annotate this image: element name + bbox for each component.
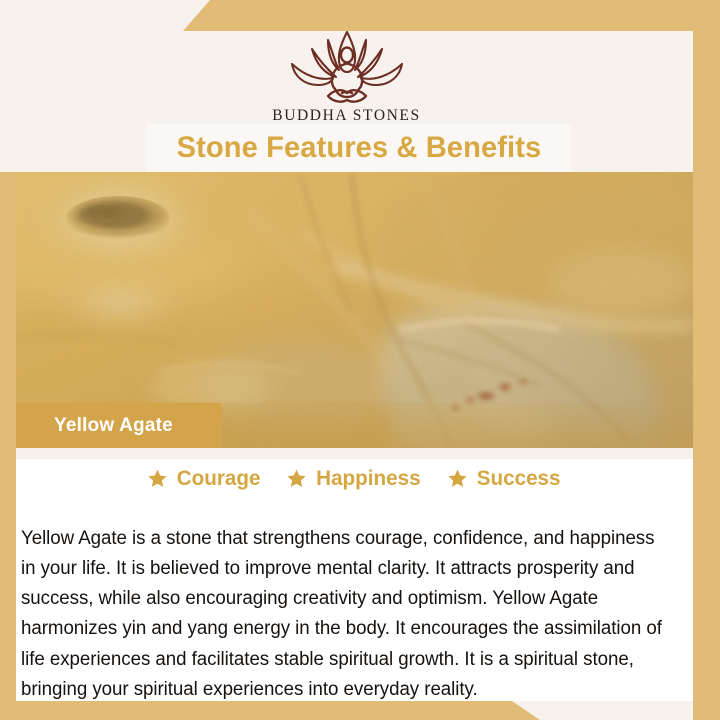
card-top-strip	[16, 448, 693, 459]
infographic-page: BUDDHA STONES Stone Features & Benefits	[0, 0, 720, 720]
gold-left-band	[0, 172, 16, 702]
gold-right-band	[693, 0, 720, 720]
keyword-item-courage: Courage	[147, 466, 262, 491]
keyword-label: Success	[477, 466, 561, 491]
meditating-buddha-lotus-icon	[272, 26, 422, 104]
star-icon	[147, 468, 168, 489]
stone-description: Yellow Agate is a stone that strengthens…	[21, 523, 663, 705]
keyword-label: Courage	[177, 466, 261, 491]
content-card: Courage Happiness Success Yello	[16, 448, 693, 701]
title-banner: Stone Features & Benefits	[146, 124, 571, 172]
brand-block: BUDDHA STONES	[0, 26, 693, 125]
stone-name: Yellow Agate	[16, 415, 173, 437]
brand-name: BUDDHA STONES	[0, 107, 693, 125]
page-title: Stone Features & Benefits	[176, 131, 541, 165]
star-icon	[447, 468, 468, 489]
keyword-item-success: Success	[447, 466, 562, 491]
keyword-item-happiness: Happiness	[286, 466, 423, 491]
keyword-row: Courage Happiness Success	[16, 466, 693, 491]
stone-caption-chip: Yellow Agate	[16, 403, 222, 448]
keyword-label: Happiness	[316, 466, 420, 491]
star-icon	[286, 468, 307, 489]
